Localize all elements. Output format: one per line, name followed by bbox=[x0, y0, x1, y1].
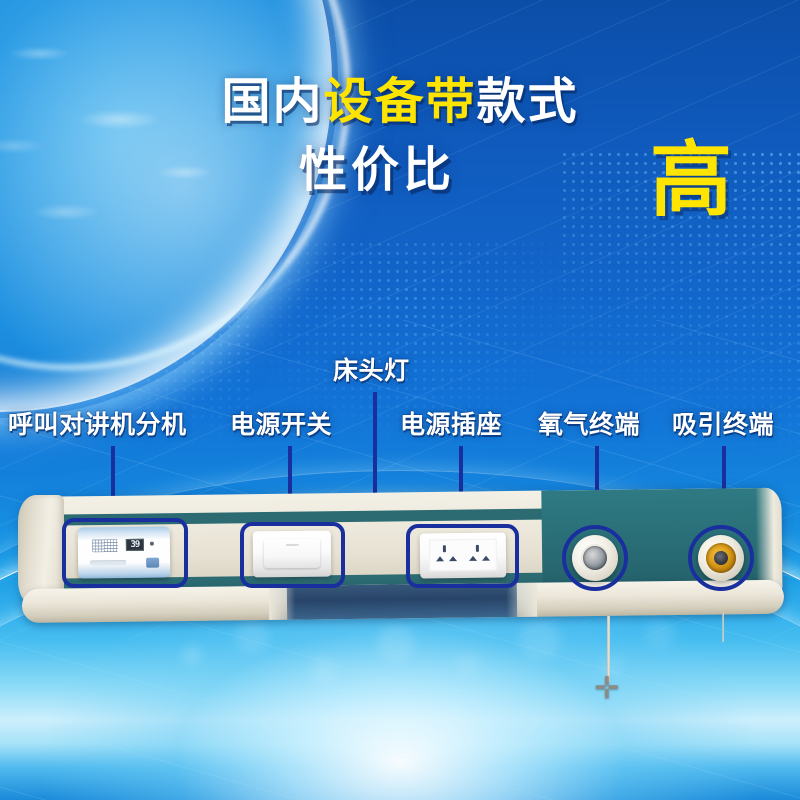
highlight-box-socket bbox=[406, 524, 519, 588]
highlight-box-oxygen bbox=[562, 525, 628, 591]
callout-label-bedlamp: 床头灯 bbox=[333, 359, 410, 384]
headline-part-guonei: 国内 bbox=[221, 75, 323, 129]
highlight-box-intercom bbox=[62, 518, 188, 588]
handrail-blue-section bbox=[287, 583, 517, 620]
callout-label-socket: 电源插座 bbox=[400, 413, 502, 438]
headline-emphasis-gao: 高 bbox=[650, 140, 732, 222]
headline-part-shebeidai: 设备带 bbox=[323, 75, 476, 129]
callout-label-oxygen: 氧气终端 bbox=[538, 413, 640, 438]
callout-label-intercom: 呼叫对讲机分机 bbox=[8, 413, 187, 438]
callout-label-suction: 吸引终端 bbox=[672, 413, 774, 438]
poster-canvas: 国内设备带款式 性价比 高 呼叫对讲机分机 电源开关 床头灯 电源插座 氧气终端… bbox=[0, 0, 800, 800]
hose-connector-icon: ✛ bbox=[592, 676, 622, 702]
suction-hose bbox=[722, 612, 724, 642]
headline-part-kuanshi: 款式 bbox=[477, 75, 579, 129]
highlight-box-suction bbox=[688, 525, 754, 591]
highlight-box-switch bbox=[240, 522, 345, 588]
headline-line-1: 国内设备带款式 bbox=[0, 78, 800, 127]
callout-label-switch: 电源开关 bbox=[230, 413, 332, 438]
